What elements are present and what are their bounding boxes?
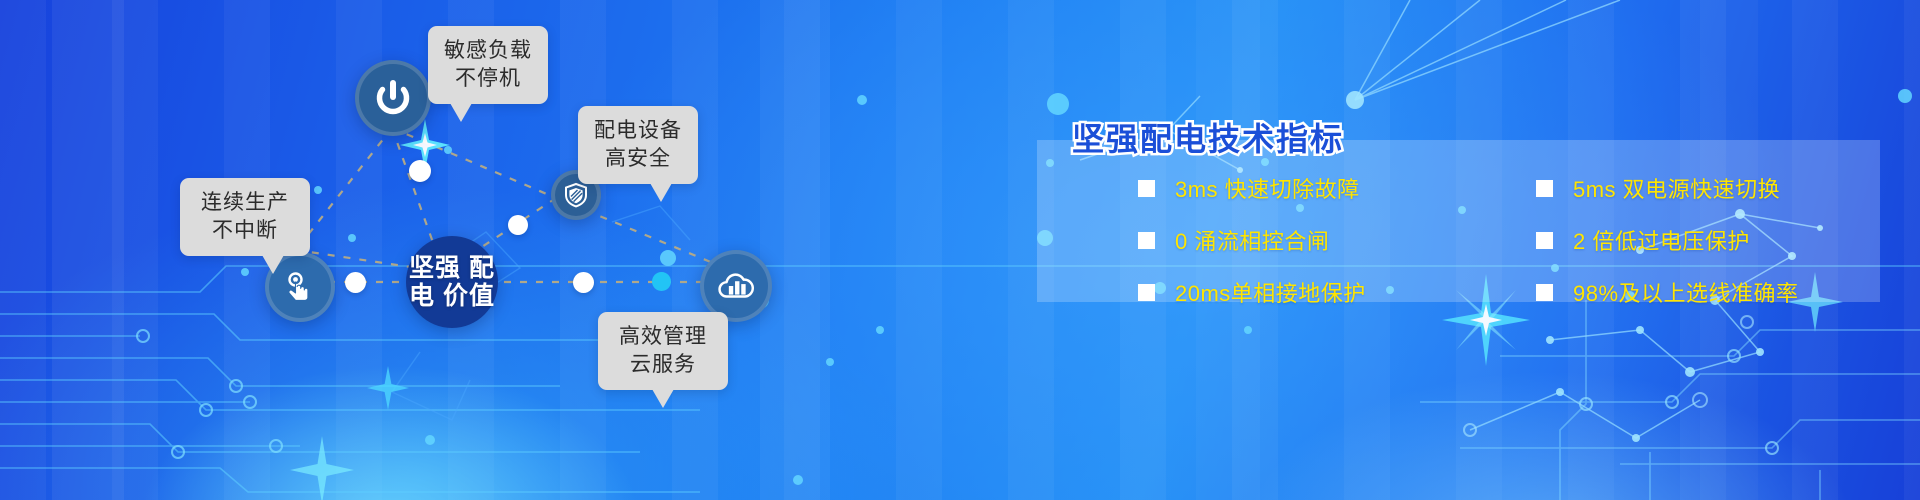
node-power[interactable] (355, 60, 431, 136)
callout-sensitive-load[interactable]: 敏感负载 不停机 (428, 26, 548, 104)
spec-item-5[interactable]: 98%及以上选线准确率 (1536, 276, 1876, 308)
hand-touch-icon (282, 269, 318, 305)
spec-label-1: 5ms 双电源快速切换 (1573, 172, 1780, 204)
square-bullet-icon (1536, 232, 1553, 249)
connector-dot-1 (409, 160, 431, 182)
spec-item-3[interactable]: 2 倍低过电压保护 (1536, 224, 1876, 256)
spec-label-0: 3ms 快速切除故障 (1175, 172, 1360, 204)
square-bullet-icon (1138, 284, 1155, 301)
power-button-icon (373, 78, 413, 118)
connector-dot-2 (508, 215, 528, 235)
tech-spec-list: 3ms 快速切除故障 5ms 双电源快速切换 0 涌流相控合闸 2 倍低过电压保… (1138, 172, 1878, 308)
node-center-hub[interactable]: 坚强 配电 价值 (406, 236, 498, 328)
spec-label-4: 20ms单相接地保护 (1175, 276, 1366, 308)
square-bullet-icon (1138, 180, 1155, 197)
shield-icon (563, 182, 589, 208)
connector-dot-4 (573, 272, 594, 293)
panel-title: 坚强配电技术指标 (1072, 114, 1344, 160)
square-bullet-icon (1138, 232, 1155, 249)
spec-item-2[interactable]: 0 涌流相控合闸 (1138, 224, 1478, 256)
center-hub-label: 坚强 配电 价值 (406, 254, 498, 310)
spec-item-1[interactable]: 5ms 双电源快速切换 (1536, 172, 1876, 204)
square-bullet-icon (1536, 180, 1553, 197)
spec-label-3: 2 倍低过电压保护 (1573, 224, 1750, 256)
cloud-bar-chart-icon (715, 265, 757, 307)
spec-item-0[interactable]: 3ms 快速切除故障 (1138, 172, 1478, 204)
spec-label-5: 98%及以上选线准确率 (1573, 276, 1799, 308)
connector-dot-5 (652, 272, 671, 291)
connector-dot-3 (345, 272, 366, 293)
spec-label-2: 0 涌流相控合闸 (1175, 224, 1329, 256)
banner-stage: 坚强 配电 价值 敏感负载 不停机 配电设备 高安全 连续生产 不中断 高效管理… (0, 0, 1920, 500)
callout-efficient-management[interactable]: 高效管理 云服务 (598, 312, 728, 390)
square-bullet-icon (1536, 284, 1553, 301)
callout-continuous-production[interactable]: 连续生产 不中断 (180, 178, 310, 256)
spec-item-4[interactable]: 20ms单相接地保护 (1138, 276, 1478, 308)
callout-power-equipment[interactable]: 配电设备 高安全 (578, 106, 698, 184)
